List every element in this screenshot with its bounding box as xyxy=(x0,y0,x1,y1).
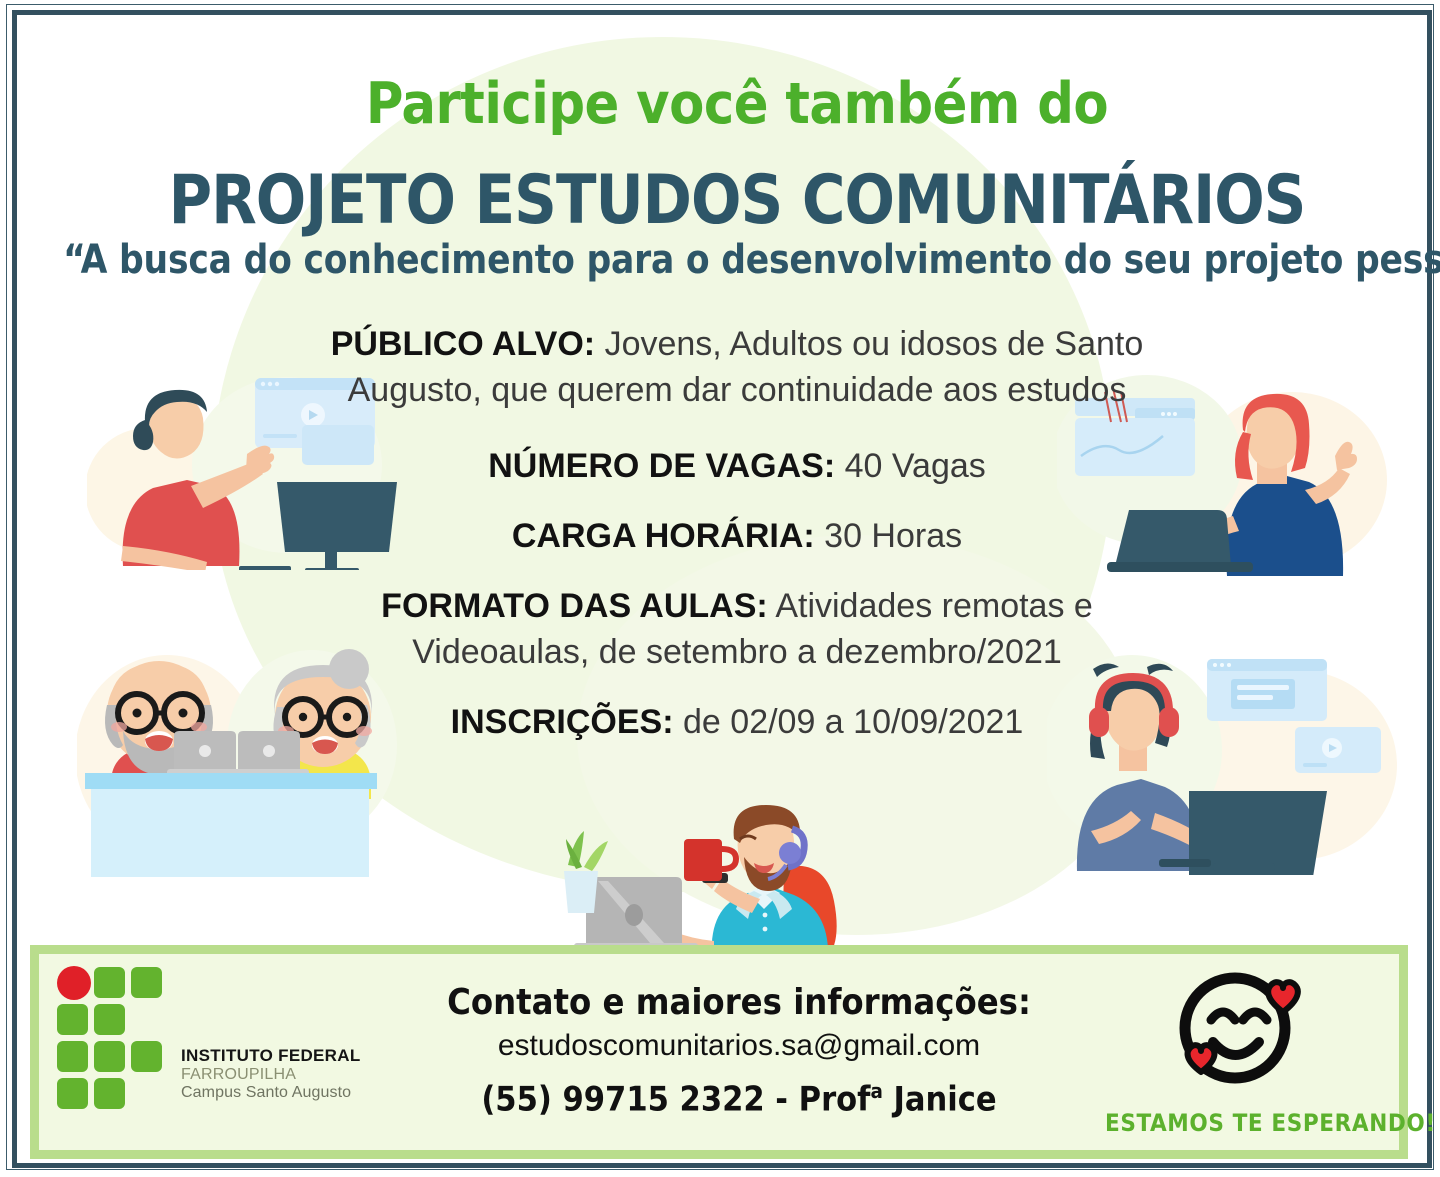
spacer xyxy=(35,489,1439,513)
logo-square xyxy=(131,1041,162,1072)
contact-email[interactable]: estudoscomunitarios.sa@gmail.com xyxy=(369,1029,1109,1063)
smiley-with-hearts-icon xyxy=(1105,962,1375,1107)
info-row-publico-alvo: PÚBLICO ALVO: Jovens, Adultos ou idosos … xyxy=(327,321,1147,413)
contact-phone-sup: a xyxy=(870,1079,882,1103)
logo-square xyxy=(131,967,162,998)
contact-phone[interactable]: (55) 99715 2322 - Profa Janice xyxy=(369,1079,1109,1119)
footer-panel: INSTITUTO FEDERAL FARROUPILHA Campus San… xyxy=(30,945,1408,1159)
logo-square xyxy=(94,1078,125,1109)
iff-logo: INSTITUTO FEDERAL FARROUPILHA Campus San… xyxy=(57,966,387,1136)
cta-text: ESTAMOS TE ESPERANDO! xyxy=(1105,1109,1375,1137)
iff-logo-icon xyxy=(57,966,197,1126)
info-label-vagas: NÚMERO DE VAGAS: xyxy=(488,447,835,485)
kicker-text: Participe você também do xyxy=(35,71,1439,137)
info-row-inscricoes: INSCRIÇÕES: de 02/09 a 10/09/2021 xyxy=(35,699,1439,745)
info-row-carga-horaria: CARGA HORÁRIA: 30 Horas xyxy=(35,513,1439,559)
info-label-publico-alvo: PÚBLICO ALVO: xyxy=(331,325,595,363)
logo-dot-red xyxy=(57,966,91,1000)
info-label-inscricoes: INSCRIÇÕES: xyxy=(451,703,674,741)
page-title: PROJETO ESTUDOS COMUNITÁRIOS xyxy=(56,161,1418,240)
contact-heading: Contato e maiores informações: xyxy=(369,982,1109,1023)
info-value-vagas: 40 Vagas xyxy=(845,447,986,485)
info-list: PÚBLICO ALVO: Jovens, Adultos ou idosos … xyxy=(35,321,1439,745)
contact-phone-number: (55) 99715 2322 - Prof xyxy=(481,1079,870,1119)
spacer xyxy=(35,675,1439,699)
cta-block: ESTAMOS TE ESPERANDO! xyxy=(1105,962,1375,1137)
logo-line-campus: Campus Santo Augusto xyxy=(181,1084,391,1102)
info-label-carga-horaria: CARGA HORÁRIA: xyxy=(512,517,815,555)
logo-line-farroupilha: FARROUPILHA xyxy=(181,1066,391,1084)
contact-phone-name: Janice xyxy=(883,1079,997,1119)
logo-line-instituto-federal: INSTITUTO FEDERAL xyxy=(181,1046,391,1066)
info-label-formato-aulas: FORMATO DAS AULAS: xyxy=(381,587,768,625)
logo-square xyxy=(57,1041,88,1072)
logo-square xyxy=(57,1078,88,1109)
spacer xyxy=(35,413,1439,443)
info-row-vagas: NÚMERO DE VAGAS: 40 Vagas xyxy=(35,443,1439,489)
poster: Participe você também do PROJETO ESTUDOS… xyxy=(0,0,1440,1174)
spacer xyxy=(35,559,1439,583)
info-row-formato-aulas: FORMATO DAS AULAS: Atividades remotas e … xyxy=(327,583,1147,675)
logo-square xyxy=(94,967,125,998)
page-subtitle: “A busca do conhecimento para o desenvol… xyxy=(63,237,1411,283)
logo-square xyxy=(94,1004,125,1035)
iff-logo-text: INSTITUTO FEDERAL FARROUPILHA Campus San… xyxy=(181,1046,391,1102)
logo-square xyxy=(57,1004,88,1035)
footer-inner: INSTITUTO FEDERAL FARROUPILHA Campus San… xyxy=(39,954,1399,1150)
logo-square xyxy=(94,1041,125,1072)
info-value-inscricoes: de 02/09 a 10/09/2021 xyxy=(683,703,1023,741)
info-value-carga-horaria: 30 Horas xyxy=(824,517,962,555)
contact-block: Contato e maiores informações: estudosco… xyxy=(369,982,1109,1119)
